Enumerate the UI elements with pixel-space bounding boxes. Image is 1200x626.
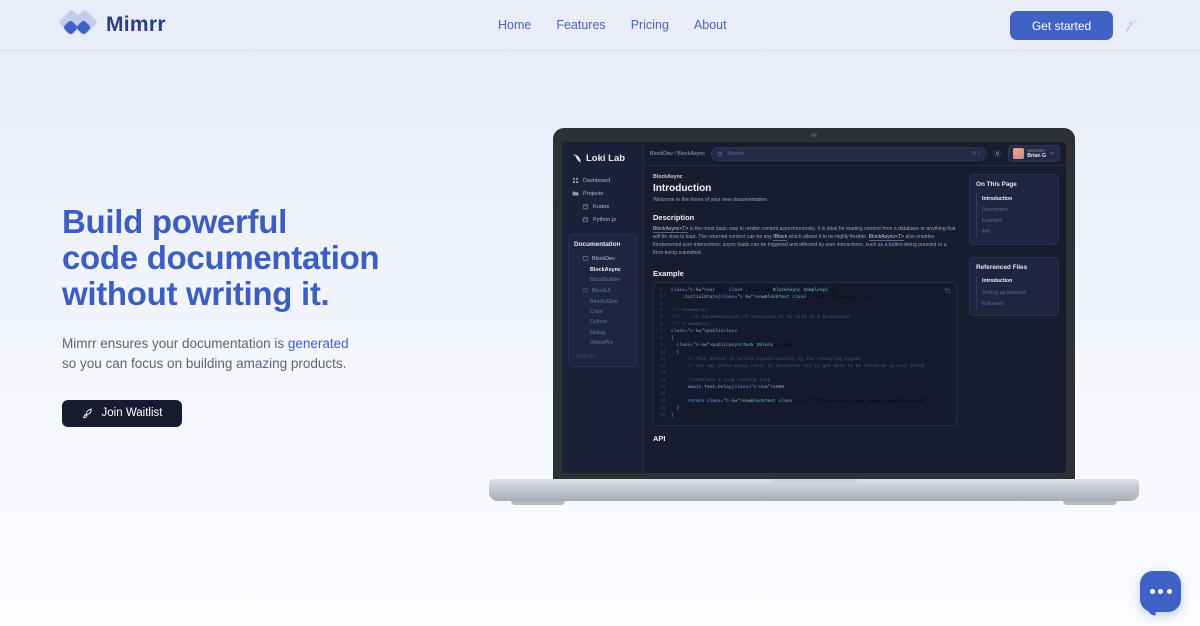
- doc-section-description: Description: [653, 213, 957, 222]
- otp-link-api[interactable]: API: [982, 227, 1052, 238]
- ref-link-introduction[interactable]: Introduction: [982, 276, 1052, 287]
- tree-item-visionpro[interactable]: VisionPro: [574, 338, 631, 348]
- doc-text-4: which allows it to be highly flexible.: [787, 234, 869, 240]
- sparkle-icon[interactable]: [1122, 17, 1140, 35]
- copy-icon[interactable]: [944, 287, 951, 294]
- file-icon: [582, 255, 589, 262]
- folder-icon: [572, 190, 579, 197]
- on-this-page-panel: On This Page Introduction Description Ex…: [969, 174, 1059, 245]
- tree-label-blockui: BlockUI: [592, 288, 611, 294]
- doc-section-api: API: [653, 434, 957, 443]
- nav-links: Home Features Pricing About: [498, 18, 727, 32]
- user-menu[interactable]: welcome, Brian G: [1008, 145, 1060, 163]
- app-screen: Loki Lab Dashboard Projects Kratos: [562, 142, 1066, 473]
- doc-paragraph: BlockAsync<T> is the most basic way to r…: [653, 226, 957, 258]
- camera-notch-icon: [811, 133, 817, 137]
- hero-section: Build powerful code documentation withou…: [62, 205, 482, 427]
- laptop-foot-left: [511, 501, 565, 505]
- tree-item-blockdev[interactable]: BlockDev: [574, 253, 631, 264]
- nav-link-pricing[interactable]: Pricing: [631, 18, 669, 32]
- nav-link-features[interactable]: Features: [556, 18, 605, 32]
- user-name: Brian G: [1027, 153, 1046, 159]
- tree-item-blockasync[interactable]: BlockAsync: [574, 264, 631, 274]
- code-line: 1class="c-kw">var api = class="c-kw">new…: [660, 288, 950, 295]
- avatar: [1013, 148, 1024, 159]
- code-lines: 1class="c-kw">var api = class="c-kw">new…: [660, 288, 950, 420]
- headline-line-2: code documentation: [62, 241, 482, 274]
- tree-item-dialog[interactable]: Dialog: [574, 328, 631, 338]
- doc-link-blockasync-2[interactable]: BlockAsync<T>: [869, 234, 904, 241]
- chevron-down-icon: [1049, 150, 1055, 156]
- right-rail: On This Page Introduction Description Ex…: [966, 166, 1066, 473]
- documentation-content: BlockAsync Introduction Welcome to the h…: [644, 166, 966, 473]
- code-line: 15 await Task.Delay(class="c-num">1000);: [660, 385, 950, 392]
- app-topbar: BlockDev / BlockAsync Search ⌘ K welcome…: [644, 142, 1066, 166]
- on-this-page-list: Introduction Description Example API: [976, 193, 1052, 238]
- gear-icon[interactable]: [993, 149, 1002, 158]
- otp-link-description[interactable]: Description: [982, 204, 1052, 215]
- sidebar-item-dashboard[interactable]: Dashboard: [568, 174, 637, 187]
- doc-section-example: Example: [653, 269, 957, 278]
- code-line: 17 return class="c-kw">new BlockText(cla…: [660, 399, 950, 406]
- referenced-files-title: Referenced Files: [976, 264, 1052, 271]
- subtitle-part-2: so you can focus on building amazing pro…: [62, 356, 346, 371]
- hero-headline: Build powerful code documentation withou…: [62, 205, 482, 310]
- nav-link-about[interactable]: About: [694, 18, 727, 32]
- hero-subtitle: Mimrr ensures your documentation is gene…: [62, 334, 482, 374]
- otp-link-example[interactable]: Example: [982, 215, 1052, 226]
- get-started-button[interactable]: Get started: [1010, 11, 1113, 40]
- code-line: 19}: [660, 413, 950, 420]
- code-line: 12 // You can place async calls to datab…: [660, 364, 950, 371]
- tree-item-blockuizee[interactable]: BlockUIZee: [574, 297, 631, 307]
- box-icon: [582, 203, 589, 210]
- app-brand-label: Loki Lab: [586, 153, 625, 164]
- search-input[interactable]: Search ⌘ K: [711, 147, 987, 161]
- tree-item-blockbuilder[interactable]: BlockBuilder: [574, 275, 631, 285]
- chat-widget-button[interactable]: [1140, 571, 1181, 612]
- referenced-files-list: Introduction Setting up instance Followe…: [976, 276, 1052, 310]
- code-line: 18 }: [660, 406, 950, 413]
- join-waitlist-button[interactable]: Join Waitlist: [62, 400, 182, 427]
- otp-link-introduction[interactable]: Introduction: [982, 193, 1052, 204]
- top-navbar: Mimrr Home Features Pricing About Get st…: [0, 0, 1200, 51]
- brand-logo[interactable]: Mimrr: [62, 11, 166, 39]
- sidebar-item-pythonjs[interactable]: Python.js: [568, 213, 637, 226]
- laptop-mockup: Loki Lab Dashboard Projects Kratos: [489, 128, 1139, 520]
- tree-item-color[interactable]: Color: [574, 307, 631, 317]
- referenced-files-panel: Referenced Files Introduction Setting up…: [969, 257, 1059, 317]
- sidebar-label-pythonjs: Python.js: [593, 217, 616, 223]
- ref-link-followers[interactable]: Followers: [982, 298, 1052, 309]
- subtitle-highlight: generated: [288, 336, 349, 351]
- join-waitlist-label: Join Waitlist: [102, 407, 163, 419]
- code-line: 9 class="c-kw">public async Task<IBlock>…: [660, 343, 950, 350]
- sidebar-item-projects[interactable]: Projects: [568, 187, 637, 200]
- tree-label-blockdev: BlockDev: [592, 256, 615, 262]
- laptop-screen-bezel: Loki Lab Dashboard Projects Kratos: [553, 128, 1075, 483]
- grid-icon: [572, 177, 579, 184]
- collapse-icon: [582, 287, 589, 294]
- nav-link-home[interactable]: Home: [498, 18, 531, 32]
- laptop-foot-right: [1063, 501, 1117, 505]
- loki-lab-logo-icon: [571, 153, 582, 164]
- breadcrumb: BlockDev / BlockAsync: [650, 151, 705, 157]
- documentation-tree-panel: Documentation BlockDev BlockAsync BlockB…: [568, 234, 637, 367]
- doc-link-iblock[interactable]: IBlock: [773, 234, 787, 241]
- sidebar-label-dashboard: Dashboard: [583, 178, 610, 184]
- sidebar-label-kratos: Kratos: [593, 204, 609, 210]
- brand-name: Mimrr: [106, 13, 166, 37]
- on-this-page-title: On This Page: [976, 181, 1052, 188]
- doc-link-blockasync[interactable]: BlockAsync<T>: [653, 226, 688, 233]
- box-icon: [582, 216, 589, 223]
- tree-show-all-link[interactable]: Show All: [574, 348, 631, 360]
- code-line: 2 .InitialState(class="c-kw">new BlockTe…: [660, 295, 950, 302]
- ref-link-setting-up-instance[interactable]: Setting up instance: [982, 287, 1052, 298]
- tree-item-culture[interactable]: Culture: [574, 317, 631, 327]
- laptop-base-notch: [771, 479, 857, 486]
- code-block: 1class="c-kw">var api = class="c-kw">new…: [653, 282, 957, 426]
- search-shortcut: ⌘ K: [972, 151, 982, 157]
- subtitle-part-1: Mimrr ensures your documentation is: [62, 336, 288, 351]
- tree-item-blockui[interactable]: BlockUI: [574, 285, 631, 296]
- app-sidebar: Loki Lab Dashboard Projects Kratos: [562, 142, 644, 473]
- sidebar-nav: Dashboard Projects Kratos Python.js: [568, 174, 637, 226]
- rocket-icon: [82, 407, 95, 420]
- search-placeholder: Search: [727, 151, 967, 157]
- app-brand[interactable]: Loki Lab: [568, 150, 637, 174]
- doc-eyebrow: BlockAsync: [653, 174, 957, 180]
- documentation-panel-title: Documentation: [574, 241, 631, 248]
- headline-line-3: without writing it.: [62, 277, 482, 310]
- doc-subtitle: Welcome to the home of your new document…: [653, 197, 957, 203]
- sidebar-item-kratos[interactable]: Kratos: [568, 200, 637, 213]
- app-main: BlockDev / BlockAsync Search ⌘ K welcome…: [644, 142, 1066, 473]
- search-icon: [717, 151, 723, 157]
- doc-title: Introduction: [653, 183, 957, 194]
- code-line: 7class="c-kw">public class: [660, 329, 950, 336]
- app-body: BlockAsync Introduction Welcome to the h…: [644, 166, 1066, 473]
- laptop-base: [489, 479, 1139, 501]
- sidebar-label-projects: Projects: [583, 191, 603, 197]
- mimrr-diamond-logo-icon: [62, 11, 96, 39]
- headline-line-1: Build powerful: [62, 205, 482, 238]
